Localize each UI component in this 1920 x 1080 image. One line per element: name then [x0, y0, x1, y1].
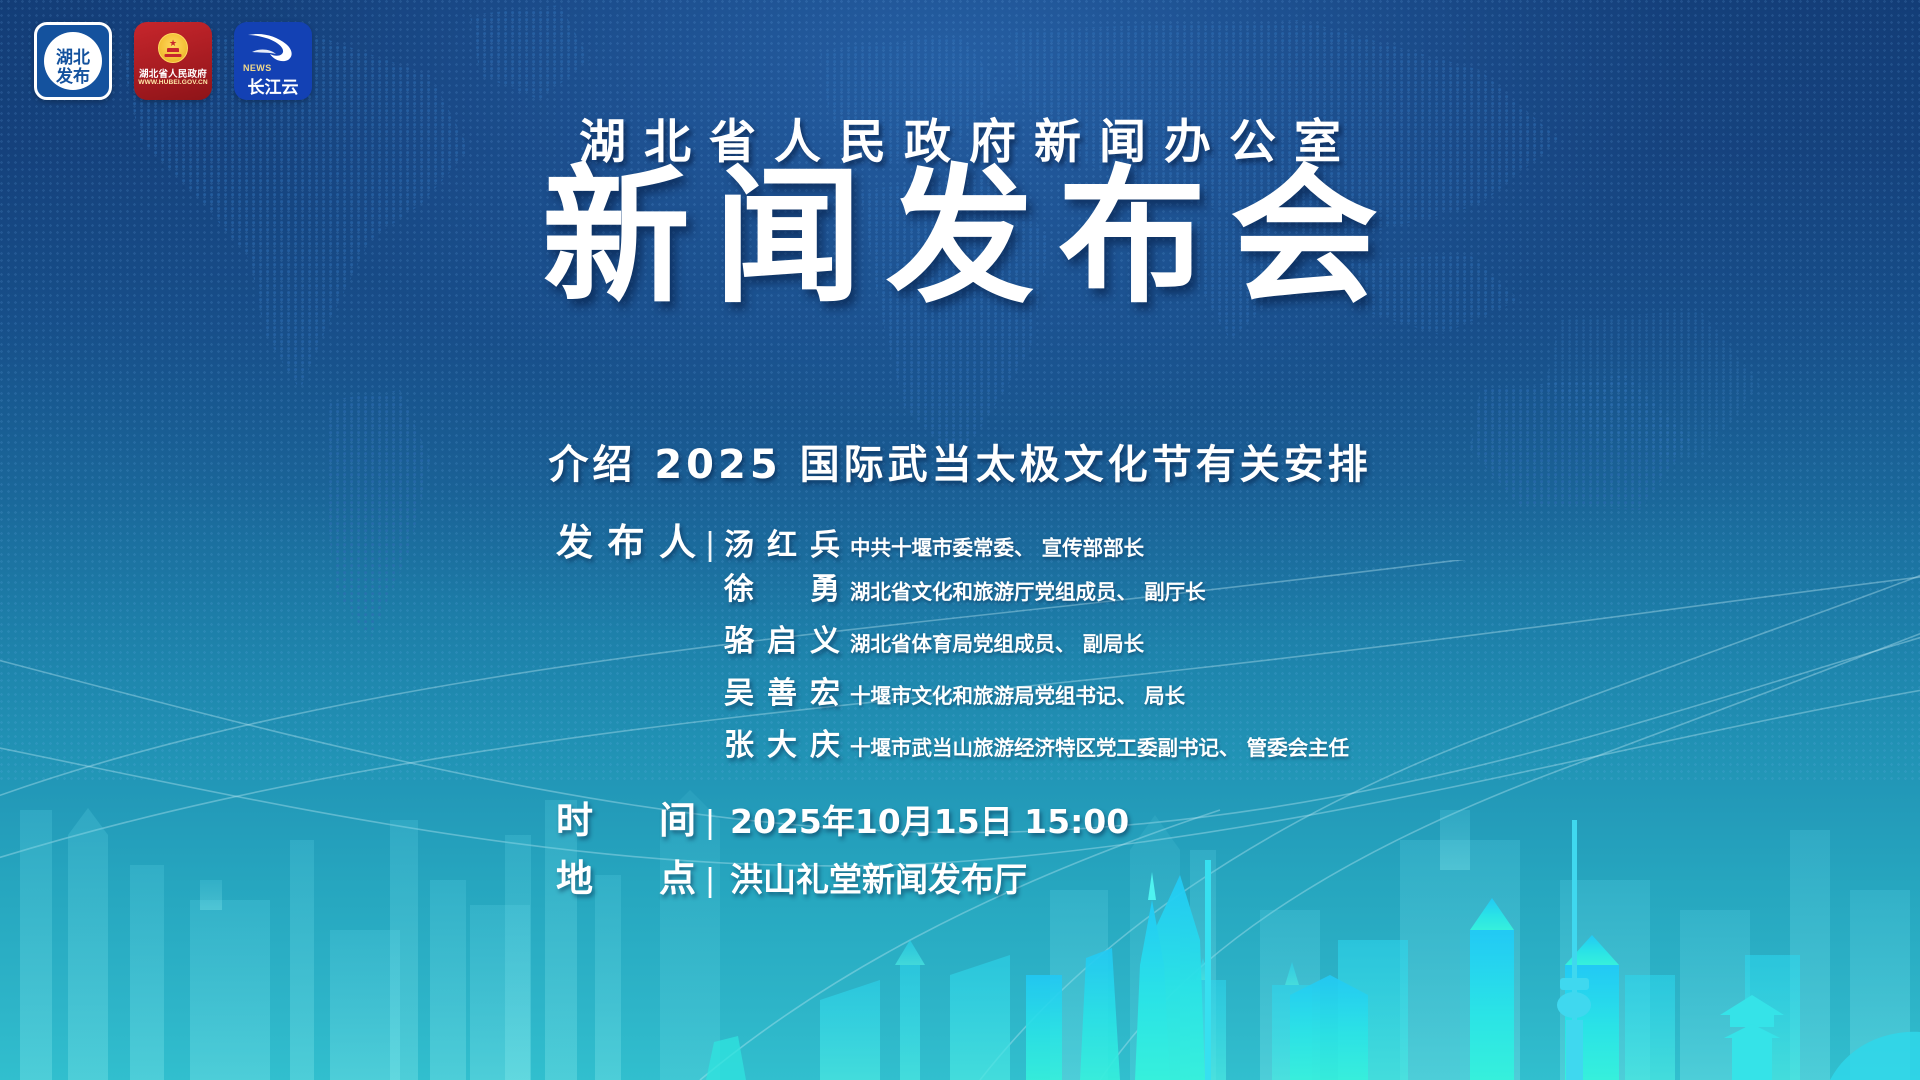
logo-line2: 发布: [56, 62, 90, 87]
divider-bar: |: [696, 803, 724, 841]
speaker-name: 骆启义: [724, 616, 840, 660]
speaker-row: 徐勇 湖北省文化和旅游厅党组成员、 副厅长: [0, 564, 1920, 616]
time-row: 时间 | 2025年10月15日 15:00: [0, 790, 1920, 848]
place-value: 洪山礼堂新闻发布厅: [724, 853, 1027, 901]
time-value: 2025年10月15日 15:00: [724, 795, 1129, 843]
speaker-name: 徐勇: [724, 564, 840, 608]
divider-bar: |: [696, 861, 724, 899]
star-icon: ★: [169, 39, 177, 48]
poster-content: 湖北省人民政府新闻办公室 新闻发布会 介绍 2025 国际武当太极文化节有关安排…: [0, 0, 1920, 1080]
logo-row: 湖北 发布 ★ 湖北省人民政府 WWW.HUBEI.GOV.CN NEWS 长江…: [34, 22, 312, 100]
speaker-title: 湖北省文化和旅游厅党组成员、 副厅长: [840, 575, 1206, 605]
page-title: 新闻发布会: [0, 163, 1920, 311]
hubei-gov-logo[interactable]: ★ 湖北省人民政府 WWW.HUBEI.GOV.CN: [134, 22, 212, 100]
wing-icon: [246, 30, 300, 64]
changjiangyun-logo[interactable]: NEWS 长江云: [234, 22, 312, 100]
event-meta: 时间 | 2025年10月15日 15:00 地点 | 洪山礼堂新闻发布厅: [0, 790, 1920, 906]
speaker-row: 骆启义 湖北省体育局党组成员、 副局长: [0, 616, 1920, 668]
place-label: 地点: [556, 848, 696, 902]
speaker-name: 张大庆: [724, 720, 840, 764]
national-emblem-icon: ★: [158, 33, 188, 63]
speaker-section-label: 发布人: [556, 512, 696, 566]
speaker-title: 中共十堰市委常委、 宣传部部长: [840, 531, 1144, 561]
speaker-row: 发布人 | 汤红兵 中共十堰市委常委、 宣传部部长: [0, 512, 1920, 564]
emblem-base: [165, 54, 182, 57]
hubei-release-logo[interactable]: 湖北 发布: [34, 22, 112, 100]
speaker-title: 湖北省体育局党组成员、 副局长: [840, 627, 1144, 657]
sub-title: 介绍 2025 国际武当太极文化节有关安排: [0, 432, 1920, 490]
emblem-gate: [167, 48, 179, 52]
divider-bar: |: [696, 525, 724, 563]
speaker-name: 吴善宏: [724, 668, 840, 712]
speaker-row: 吴善宏 十堰市文化和旅游局党组书记、 局长: [0, 668, 1920, 720]
poster-stage: 湖北 发布 ★ 湖北省人民政府 WWW.HUBEI.GOV.CN NEWS 长江…: [0, 0, 1920, 1080]
gov-logo-url: WWW.HUBEI.GOV.CN: [134, 79, 212, 86]
gov-logo-title: 湖北省人民政府: [134, 66, 212, 80]
speaker-row: 张大庆 十堰市武当山旅游经济特区党工委副书记、 管委会主任: [0, 720, 1920, 772]
logo-news-label: NEWS: [243, 63, 272, 73]
speaker-list: 发布人 | 汤红兵 中共十堰市委常委、 宣传部部长 徐勇 湖北省文化和旅游厅党组…: [0, 512, 1920, 772]
speaker-name: 汤红兵: [724, 520, 840, 564]
time-label: 时间: [556, 790, 696, 844]
place-row: 地点 | 洪山礼堂新闻发布厅: [0, 848, 1920, 906]
logo-title: 长江云: [234, 73, 312, 98]
speaker-title: 十堰市文化和旅游局党组书记、 局长: [840, 679, 1185, 709]
speaker-title: 十堰市武当山旅游经济特区党工委副书记、 管委会主任: [840, 731, 1349, 761]
